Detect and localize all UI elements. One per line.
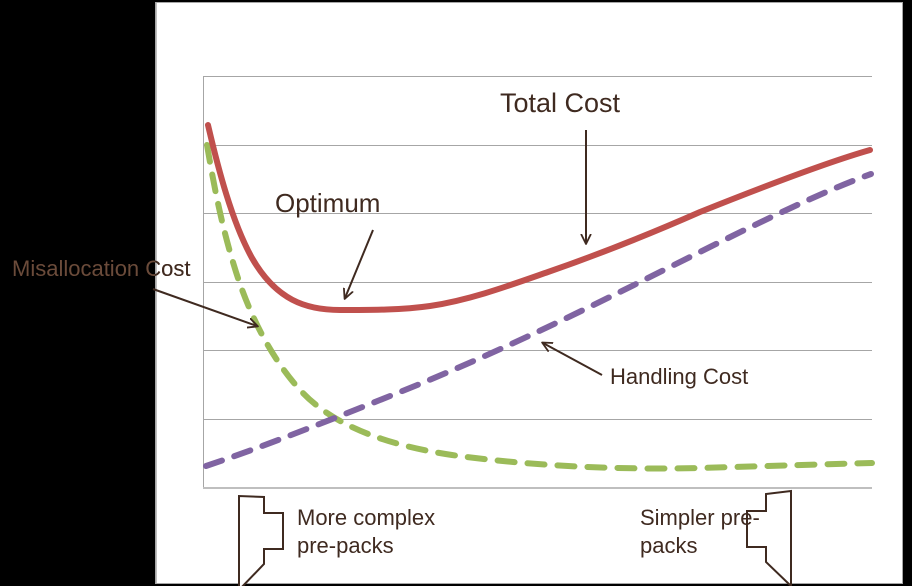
handling-cost-leader-arrow: [543, 343, 602, 375]
handling-cost-label: Handling Cost: [610, 364, 748, 390]
left-block-arrow[interactable]: [239, 496, 283, 586]
misallocation-cost-label-overlap-text: Misallocation Cost: [155, 256, 191, 282]
misallocation-cost-label-overlap: Misallocation Cost: [155, 250, 215, 284]
simpler-prepacks-label: Simpler pre-packs: [640, 504, 785, 560]
total-cost-label: Total Cost: [500, 88, 620, 120]
more-complex-prepacks-label: More complex pre-packs: [297, 504, 472, 560]
chart-series-overlay: [0, 0, 912, 586]
optimum-leader-arrow: [345, 230, 373, 298]
optimum-label: Optimum: [275, 188, 380, 219]
